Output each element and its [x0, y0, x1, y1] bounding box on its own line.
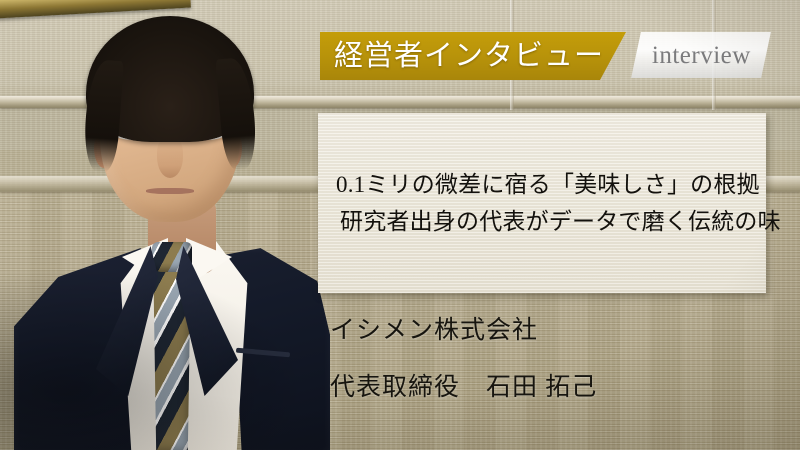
headline-line-1: 0.1ミリの微差に宿る「美味しさ」の根拠 — [336, 166, 750, 203]
headline-line-2: 研究者出身の代表がデータで磨く伝統の味 — [336, 203, 750, 240]
interview-title-card: 経営者インタビュー interview 0.1ミリの微差に宿る「美味しさ」の根拠… — [0, 0, 800, 450]
subject-title-and-name: 代表取締役 石田 拓己 — [330, 375, 597, 400]
company-name: イシメン株式会社 — [330, 318, 597, 343]
credits-block: イシメン株式会社 代表取締役 石田 拓己 — [330, 318, 597, 400]
